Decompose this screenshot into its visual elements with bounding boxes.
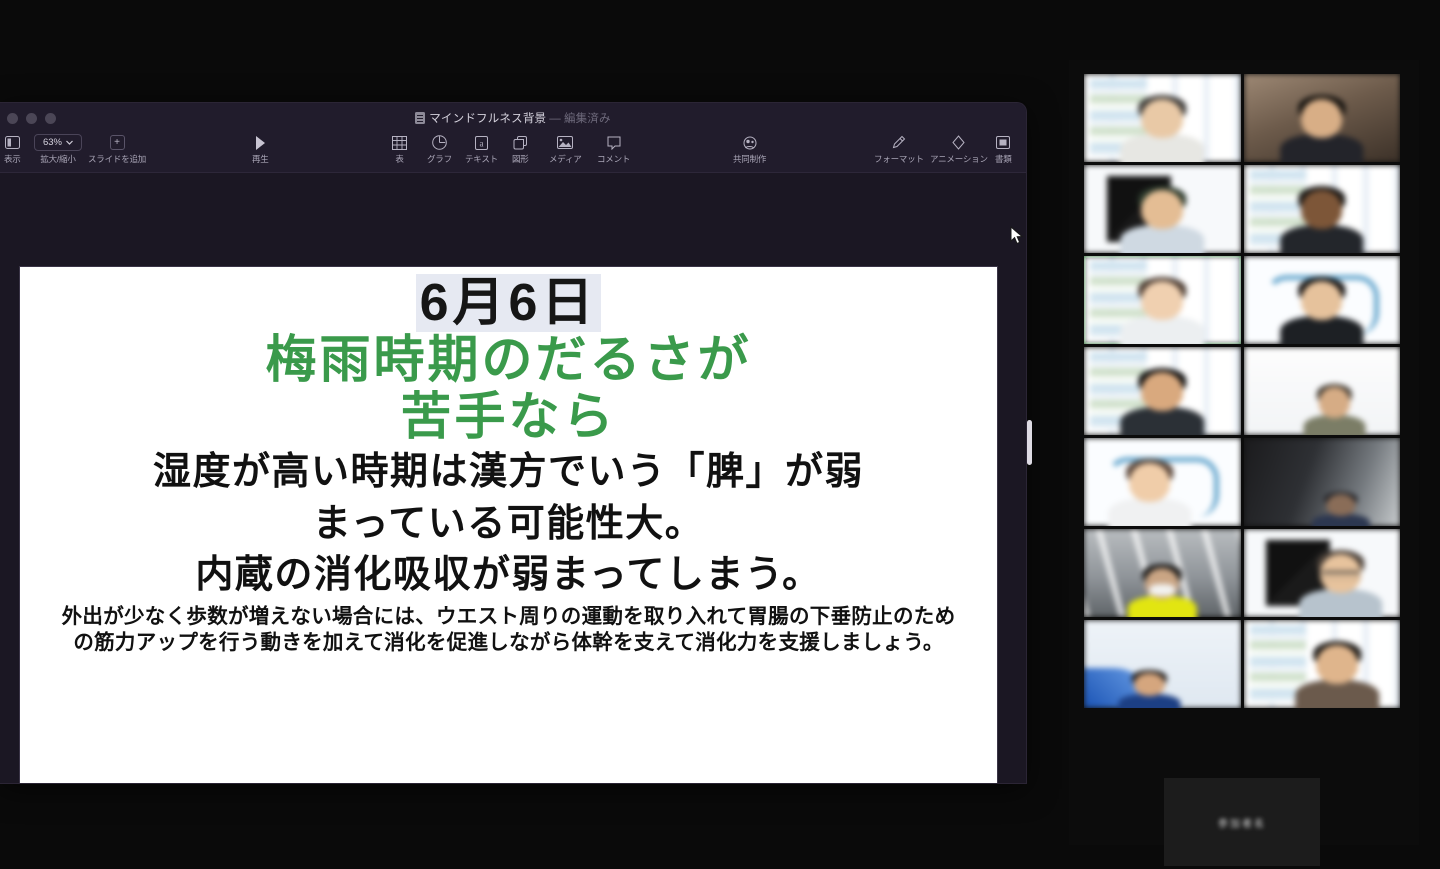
- slide-body-line1[interactable]: 湿度が高い時期は漢方でいう「脾」が弱: [32, 449, 985, 497]
- mouse-pointer: [1010, 226, 1026, 246]
- glasses: [1322, 571, 1359, 579]
- add-slide-icon: +: [110, 134, 125, 151]
- window-titlebar: マインドフルネス背景—編集済み: [0, 103, 1026, 131]
- participant-tile[interactable]: [1244, 438, 1401, 526]
- toolbar-media-label: メディア: [549, 153, 582, 165]
- participant-tile[interactable]: [1244, 620, 1401, 708]
- toolbar-chart-button[interactable]: グラフ: [427, 134, 452, 165]
- participant-tile[interactable]: [1244, 347, 1401, 435]
- slide-small-text[interactable]: 外出が少なく歩数が増えない場合には、ウエスト周りの運動を取り入れて胃腸の下垂防止…: [32, 604, 985, 656]
- slide-body-line3[interactable]: 内蔵の消化吸収が弱まってしまう。: [32, 552, 985, 600]
- chart-icon: [432, 134, 447, 151]
- participant-tile[interactable]: [1084, 620, 1241, 708]
- video-conference-panel: 参加者名: [1069, 60, 1419, 845]
- collaborate-icon: [742, 134, 758, 151]
- keynote-toolbar: 表示 63% 拡大/縮小 + スライドを追加: [0, 131, 1026, 173]
- svg-text:a: a: [479, 138, 483, 148]
- zoom-level-dropdown[interactable]: 63%: [34, 134, 82, 151]
- participant-tile-camera-off[interactable]: 参加者名: [1164, 778, 1320, 866]
- format-brush-icon: [891, 134, 906, 151]
- participant-tile[interactable]: [1084, 438, 1241, 526]
- toolbar-shape-button[interactable]: 図形: [512, 134, 529, 165]
- keynote-window: マインドフルネス背景—編集済み 表示 63% 拡大/縮小: [0, 103, 1026, 783]
- participant-grid: [1084, 74, 1400, 708]
- toolbar-document-button[interactable]: 書類: [995, 134, 1012, 165]
- toolbar-animate-label: アニメーション: [930, 153, 988, 165]
- toolbar-view-button[interactable]: 表示: [4, 134, 21, 165]
- participant-tile[interactable]: [1244, 165, 1401, 253]
- chevron-down-icon: [66, 140, 73, 145]
- toolbar-view-label: 表示: [4, 153, 21, 165]
- comment-icon: [607, 134, 621, 151]
- participant-tile[interactable]: [1244, 529, 1401, 617]
- slide-date-title-text: 6月6日: [416, 274, 602, 332]
- participant-tile[interactable]: [1084, 165, 1241, 253]
- participant-tile-active-speaker[interactable]: [1084, 256, 1241, 344]
- slide-body-line2[interactable]: まっている可能性大。: [32, 501, 985, 549]
- toolbar-play-label: 再生: [252, 153, 269, 165]
- toolbar-document-label: 書類: [995, 153, 1012, 165]
- table-icon: [392, 134, 407, 151]
- toolbar-format-label: フォーマット: [874, 153, 924, 165]
- toolbar-text-label: テキスト: [465, 153, 498, 165]
- participant-name-label: 参加者名: [1218, 815, 1266, 830]
- document-title-text: マインドフルネス背景: [429, 113, 546, 125]
- edited-status: 編集済み: [564, 113, 611, 125]
- participant-tile[interactable]: [1244, 74, 1401, 162]
- text-icon: a: [475, 134, 488, 151]
- play-icon: [255, 134, 266, 151]
- toolbar-text-button[interactable]: a テキスト: [465, 134, 498, 165]
- face-mask: [1149, 584, 1175, 596]
- canvas-vertical-scrollbar[interactable]: [1027, 420, 1032, 465]
- slide-date-title[interactable]: 6月6日: [32, 275, 985, 331]
- slide-heading-line2[interactable]: 苦手なら: [32, 388, 985, 445]
- keynote-document-icon: [415, 112, 425, 124]
- toolbar-table-button[interactable]: 表: [392, 134, 407, 165]
- toolbar-play-button[interactable]: 再生: [252, 134, 269, 165]
- toolbar-format-button[interactable]: フォーマット: [874, 134, 924, 165]
- document-title[interactable]: マインドフルネス背景—編集済み: [0, 110, 1026, 126]
- toolbar-comment-label: コメント: [597, 153, 630, 165]
- toolbar-table-label: 表: [395, 153, 403, 165]
- desktop-screen: マインドフルネス背景—編集済み 表示 63% 拡大/縮小: [0, 0, 1440, 869]
- toolbar-comment-button[interactable]: コメント: [597, 134, 630, 165]
- sidebar-view-icon: [5, 134, 20, 151]
- participant-tile[interactable]: [1244, 256, 1401, 344]
- toolbar-zoom-control[interactable]: 63% 拡大/縮小: [34, 134, 82, 165]
- toolbar-media-button[interactable]: メディア: [549, 134, 582, 165]
- toolbar-add-slide-label: スライドを追加: [88, 153, 146, 165]
- toolbar-animate-button[interactable]: アニメーション: [930, 134, 988, 165]
- shape-icon: [513, 134, 528, 151]
- toolbar-collaborate-label: 共同制作: [733, 153, 766, 165]
- slide-canvas[interactable]: 6月6日 梅雨時期のだるさが 苦手なら 湿度が高い時期は漢方でいう「脾」が弱 ま…: [0, 173, 1026, 783]
- slide-heading-line1[interactable]: 梅雨時期のだるさが: [32, 331, 985, 388]
- participant-tile[interactable]: [1084, 347, 1241, 435]
- zoom-level-value: 63%: [43, 137, 62, 148]
- toolbar-collaborate-button[interactable]: 共同制作: [733, 134, 766, 165]
- media-icon: [557, 134, 573, 151]
- participant-tile[interactable]: [1084, 74, 1241, 162]
- toolbar-add-slide-button[interactable]: + スライドを追加: [88, 134, 146, 165]
- toolbar-zoom-label: 拡大/縮小: [40, 153, 75, 165]
- title-separator: —: [549, 113, 561, 125]
- toolbar-shape-label: 図形: [512, 153, 529, 165]
- toolbar-chart-label: グラフ: [427, 153, 452, 165]
- animate-icon: [951, 134, 966, 151]
- slide-editor-surface[interactable]: 6月6日 梅雨時期のだるさが 苦手なら 湿度が高い時期は漢方でいう「脾」が弱 ま…: [20, 267, 997, 783]
- document-icon: [996, 134, 1010, 151]
- participant-tile[interactable]: [1084, 529, 1241, 617]
